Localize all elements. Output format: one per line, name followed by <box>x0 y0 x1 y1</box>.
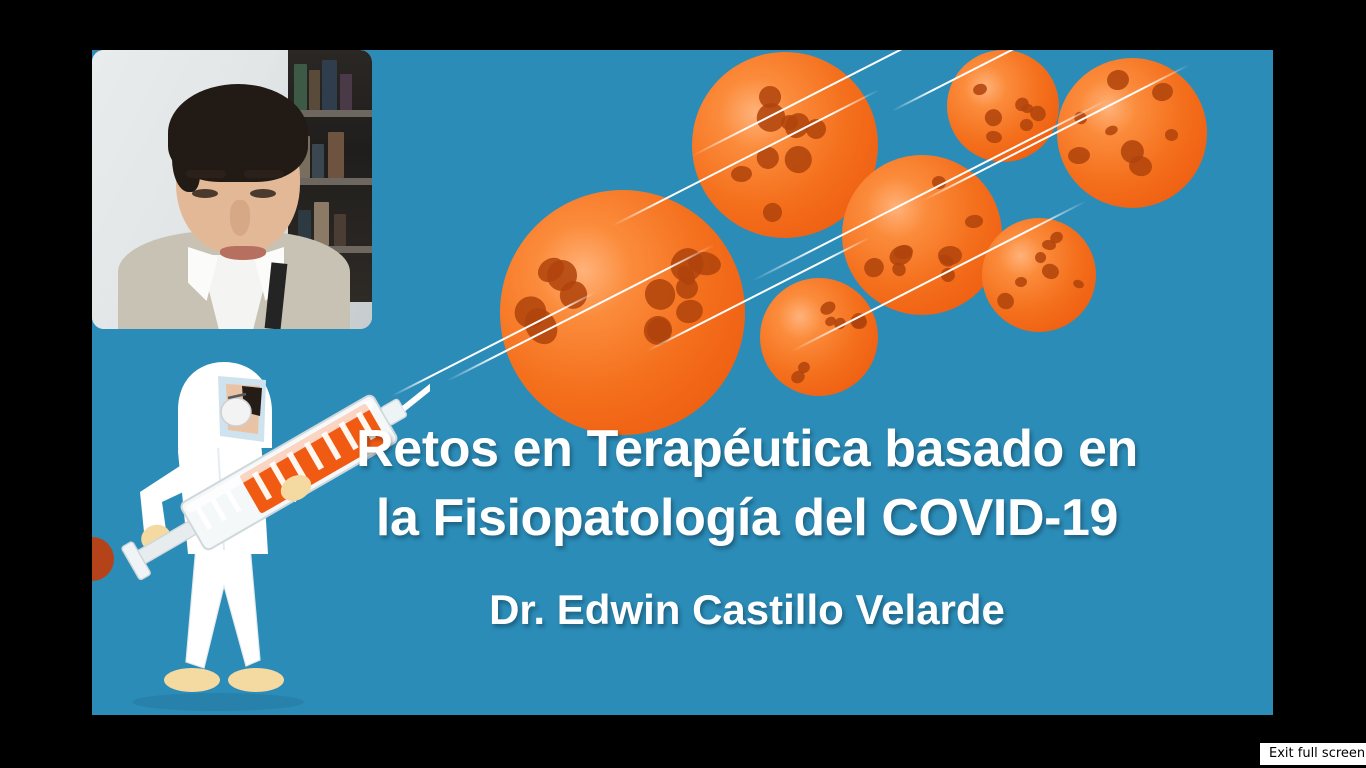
webcam-eye-left <box>192 189 218 198</box>
virus-body <box>842 155 1002 315</box>
virus-large-left <box>500 190 745 435</box>
virus-mid-right <box>842 155 1002 315</box>
virus-body <box>1057 58 1207 208</box>
webcam-eyebrow-left <box>186 170 226 178</box>
slide-title-line-1: Retos en Terapéutica basado en <box>322 415 1172 484</box>
virus-surface-spot <box>1020 119 1033 131</box>
webcam-eye-right <box>250 189 276 198</box>
virus-body <box>982 218 1096 332</box>
webcam-self-view[interactable] <box>92 50 372 329</box>
virus-body <box>947 50 1059 162</box>
webcam-hair <box>168 84 308 182</box>
webcam-mouth <box>220 246 266 260</box>
virus-right-mid <box>982 218 1096 332</box>
slide-title-line-2: la Fisiopatología del COVID-19 <box>322 484 1172 553</box>
exit-fullscreen-tooltip: Exit full screen (f) <box>1259 742 1366 766</box>
slide-presenter-name: Dr. Edwin Castillo Velarde <box>322 585 1172 635</box>
slide-title: Retos en Terapéutica basado en la Fisiop… <box>322 415 1172 552</box>
webcam-nose <box>230 200 250 236</box>
virus-top-far-right <box>1057 58 1207 208</box>
virus-top-right-small <box>947 50 1059 162</box>
screen-root: Retos en Terapéutica basado en la Fisiop… <box>0 0 1366 768</box>
webcam-eyebrow-right <box>244 170 284 178</box>
